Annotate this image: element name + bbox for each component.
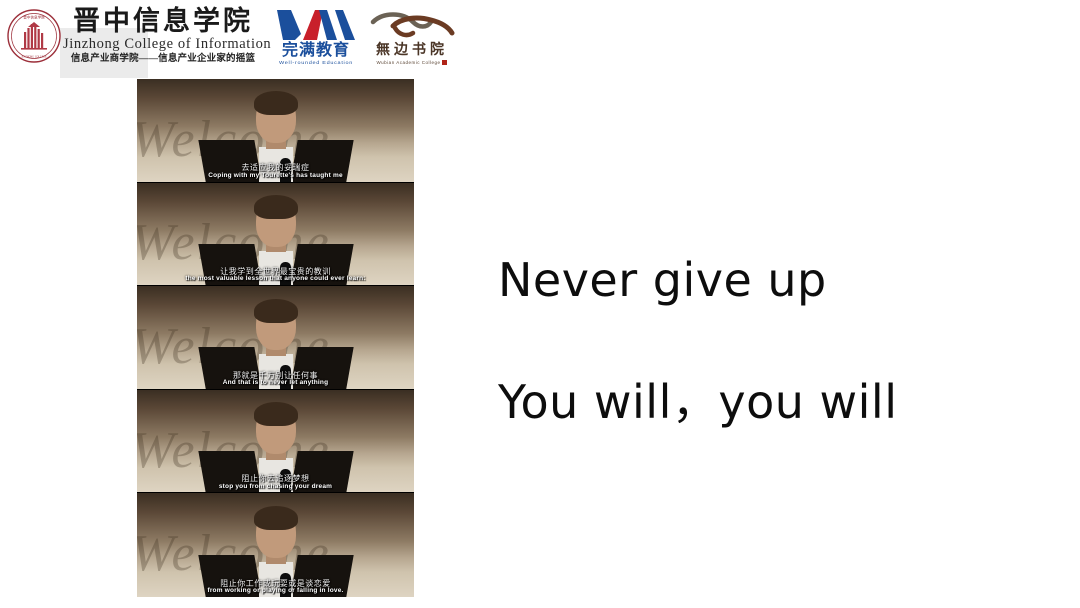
subtitle-en: Coping with my Tourette's has taught me: [137, 173, 414, 180]
header-logo-band: 晋中信息学院 JINZHONG COLLEGE 晋中信息学院 Jinzhong …: [0, 0, 1080, 78]
video-frame[interactable]: Welcome 让我学到全世界最宝贵的教训 the most valuable …: [137, 183, 414, 287]
subtitle-en: And that is to never let anything: [137, 380, 414, 387]
video-frame[interactable]: Welcome 阻止你工作或玩耍或是谈恋爱 from working or pl…: [137, 493, 414, 597]
wanman-name-en: Well-rounded Education: [268, 59, 364, 66]
hair: [254, 195, 298, 219]
video-frame[interactable]: Welcome 去适应我的妥瑞症 Coping with my Tourette…: [137, 79, 414, 183]
subtitle-en: from working or playing or falling in lo…: [137, 588, 414, 595]
hair: [254, 91, 298, 115]
subtitle-group: 让我学到全世界最宝贵的教训 the most valuable lesson t…: [137, 268, 414, 283]
video-frame[interactable]: Welcome 阻止你去追逐梦想 stop you from chasing y…: [137, 390, 414, 494]
hair: [254, 506, 298, 530]
headline-line-2: You will，you will: [498, 374, 1018, 430]
headline-line-1: Never give up: [498, 252, 1018, 308]
slide-body-text: Never give up You will，you will: [498, 252, 1018, 430]
wubian-academy-logo: 無边书院 Wubian Academic College: [366, 8, 458, 68]
video-frame[interactable]: Welcome 那就是千万别让任何事 And that is to never …: [137, 286, 414, 390]
hair: [254, 402, 298, 426]
wubian-en-text: Wubian Academic College: [377, 60, 441, 65]
svg-text:JINZHONG COLLEGE: JINZHONG COLLEGE: [21, 56, 47, 59]
vm-monogram-icon: [273, 8, 359, 42]
wanman-name-cn: 完满教育: [268, 42, 364, 59]
video-filmstrip: Welcome 去适应我的妥瑞症 Coping with my Tourette…: [137, 79, 414, 597]
red-seal-icon: [442, 60, 447, 65]
subtitle-group: 去适应我的妥瑞症 Coping with my Tourette's has t…: [137, 164, 414, 179]
subtitle-group: 那就是千万别让任何事 And that is to never let anyt…: [137, 372, 414, 387]
subtitle-group: 阻止你去追逐梦想 stop you from chasing your drea…: [137, 475, 414, 490]
jinzhong-seal-logo: 晋中信息学院 JINZHONG COLLEGE: [6, 8, 62, 64]
subtitle-en: the most valuable lesson that anyone cou…: [137, 276, 414, 283]
wanman-education-logo: 完满教育 Well-rounded Education: [268, 8, 364, 68]
svg-text:晋中信息学院: 晋中信息学院: [23, 15, 45, 20]
jinzhong-name-en: Jinzhong College of Information: [63, 36, 263, 53]
hair: [254, 299, 298, 323]
wubian-name-cn: 無边书院: [366, 42, 458, 59]
subtitle-group: 阻止你工作或玩耍或是谈恋爱 from working or playing or…: [137, 580, 414, 595]
jinzhong-wordmark-logo: 晋中信息学院 Jinzhong College of Information 信…: [63, 6, 263, 70]
brush-wave-icon: [369, 8, 455, 42]
wubian-name-en: Wubian Academic College: [366, 59, 458, 66]
jinzhong-tagline: 信息产业商学院——信息产业企业家的摇篮: [63, 53, 263, 65]
subtitle-en: stop you from chasing your dream: [137, 484, 414, 491]
jinzhong-name-cn: 晋中信息学院: [63, 6, 263, 36]
